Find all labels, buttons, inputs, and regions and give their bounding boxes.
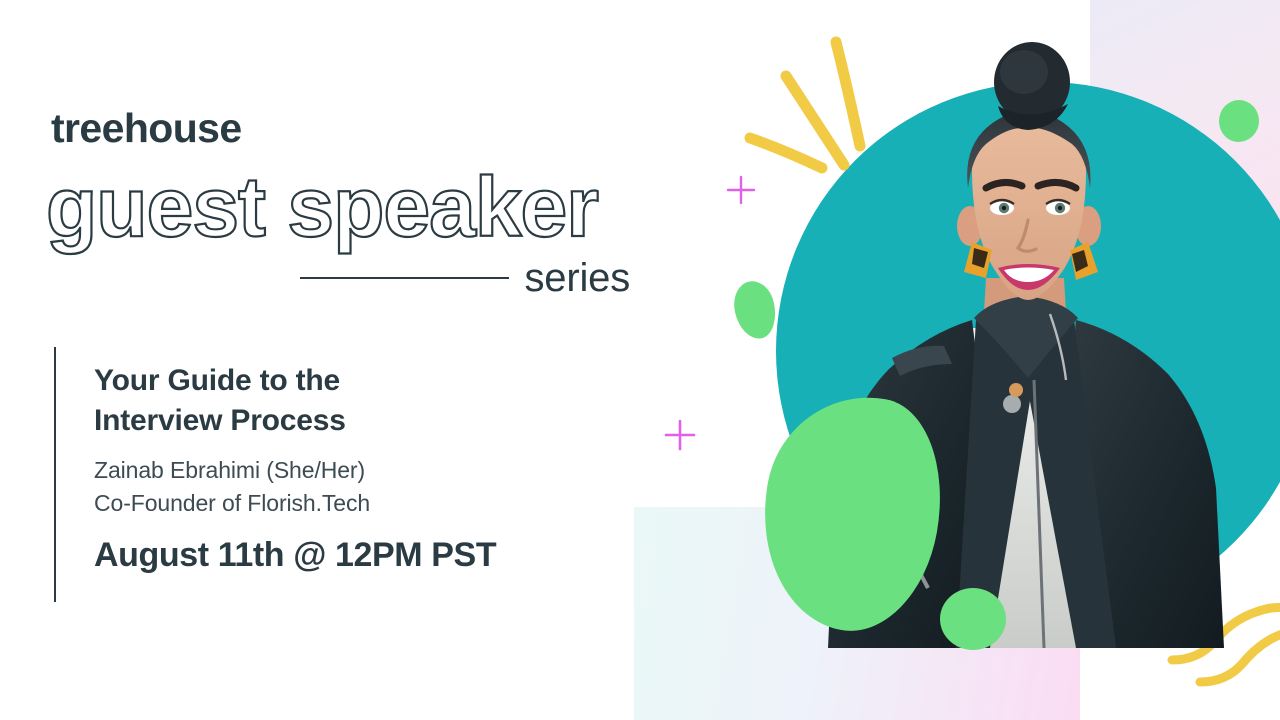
speaker-role: Co-Founder of Florish.Tech xyxy=(94,487,614,520)
series-divider-rule xyxy=(300,277,509,279)
green-pill-blob xyxy=(729,277,780,342)
event-datetime: August 11th @ 12PM PST xyxy=(94,538,614,572)
series-row: series xyxy=(300,258,630,298)
talk-title-line-1: Your Guide to the xyxy=(94,361,614,401)
series-label: series xyxy=(525,258,631,298)
talk-title: Your Guide to the Interview Process xyxy=(94,361,614,440)
treehouse-wordmark: treehouse xyxy=(51,108,242,149)
talk-title-line-2: Interview Process xyxy=(94,401,614,441)
green-dot-small xyxy=(940,588,1006,650)
event-detail-block: Your Guide to the Interview Process Zain… xyxy=(54,347,614,602)
plus-mark-icon-lower xyxy=(664,419,696,451)
promo-slide: treehouse guest speaker series Your Guid… xyxy=(0,0,1280,720)
speaker-info: Zainab Ebrahimi (She/Her) Co-Founder of … xyxy=(94,454,614,519)
svg-text:guest speaker: guest speaker xyxy=(46,160,598,254)
plus-mark-icon-upper xyxy=(726,175,756,205)
guest-speaker-outlined-headline: guest speaker xyxy=(44,160,684,260)
speaker-name: Zainab Ebrahimi (She/Her) xyxy=(94,454,614,487)
